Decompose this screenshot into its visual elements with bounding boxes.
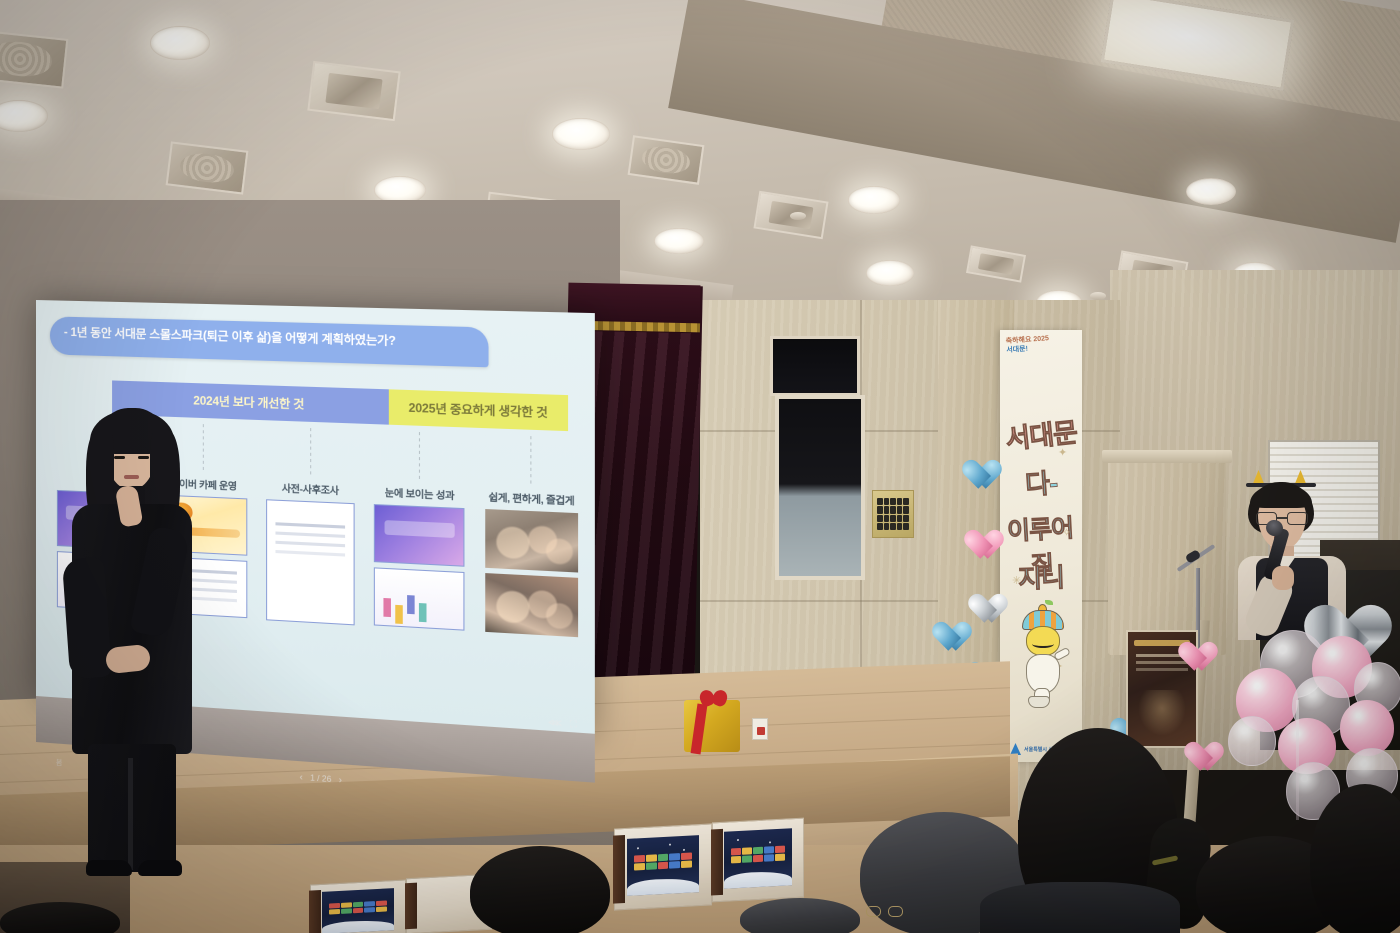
- banner-handwriting: 축하해요 2025 서대문!: [1005, 334, 1068, 356]
- glasses-icon: [1256, 512, 1310, 525]
- pager-prev-button[interactable]: ‹: [300, 771, 303, 782]
- hall-scene: 축하해요 2025 서대문! 서대문 다- 이루어질 지니 ✦ ✧ ✳ ✦ 서울…: [0, 0, 1400, 933]
- switch[interactable]: [897, 515, 903, 522]
- column-connector: [203, 424, 204, 473]
- banner-handwriting-line1: 축하해요 2025: [1005, 335, 1049, 345]
- audience-head: [740, 898, 860, 933]
- heart-balloon-silver: [962, 582, 996, 614]
- projection-booth-window: [775, 395, 865, 580]
- switch[interactable]: [903, 523, 909, 530]
- box-ribbon: [405, 883, 417, 929]
- mc-fringe: [1250, 484, 1312, 508]
- switch[interactable]: [884, 498, 890, 505]
- slide-toolbar[interactable]: ⋘ ⛶: [548, 717, 577, 731]
- slide-title: - 1년 동안 서대문 스몰스파크(퇴근 이후 삶)을 어떻게 계획하였는가?: [50, 316, 489, 367]
- switch[interactable]: [890, 523, 896, 530]
- box-artwork: [322, 888, 393, 933]
- presenter-leg-gap: [128, 758, 133, 870]
- sparkle-icon: ✧: [1062, 526, 1071, 539]
- outlet-marker: [757, 727, 765, 735]
- thumbnail-image: [266, 499, 355, 625]
- genie-leaf: [1045, 600, 1053, 605]
- switch[interactable]: [890, 498, 896, 505]
- switch[interactable]: [890, 506, 896, 513]
- column-connector: [531, 436, 532, 487]
- thumbnail-photo: [485, 573, 578, 637]
- switch[interactable]: [903, 506, 909, 513]
- switch[interactable]: [903, 498, 909, 505]
- presenter-shoe-right: [138, 860, 182, 876]
- box-ribbon: [613, 835, 625, 903]
- switch[interactable]: [884, 523, 890, 530]
- switch[interactable]: [884, 515, 890, 522]
- share-icon[interactable]: ⋘: [548, 717, 562, 730]
- heart-balloon-pink: [958, 518, 992, 550]
- box-ribbon: [309, 890, 321, 933]
- switch[interactable]: [897, 506, 903, 513]
- switch[interactable]: [877, 498, 883, 505]
- box-tile-graphic: [731, 846, 786, 863]
- genie-mascot: [1014, 600, 1070, 710]
- audience-head: [470, 846, 610, 933]
- slide-header-2025: 2025년 중요하게 생각한 것: [389, 389, 568, 431]
- sparkle-icon: ✦: [1058, 446, 1067, 459]
- presenter-mouth: [124, 475, 139, 479]
- downlight: [1186, 178, 1236, 205]
- genie-moustache: [1032, 640, 1054, 648]
- banner-handwriting-line2: 서대문!: [1006, 345, 1028, 353]
- event-banner: 축하해요 2025 서대문! 서대문 다- 이루어질 지니 ✦ ✧ ✳ ✦ 서울…: [1000, 330, 1082, 762]
- presenter-eye-left: [114, 456, 125, 459]
- thumbnail-image: [374, 567, 465, 630]
- balloon-clear: [1228, 716, 1276, 766]
- ceiling-vent: [307, 61, 400, 121]
- downlight: [848, 186, 900, 214]
- switch[interactable]: [903, 515, 909, 522]
- ceiling-vent: [166, 141, 249, 194]
- gift-box-item: [614, 823, 712, 910]
- column-connector: [419, 432, 420, 482]
- column-label: 눈에 보이는 성과: [385, 485, 455, 503]
- presenter-eye-right: [138, 456, 149, 459]
- podium-top-surface: [1102, 450, 1232, 463]
- thumbnail-photo: [485, 509, 578, 573]
- genie-lamp-icon: [1028, 696, 1050, 708]
- presenter-shoe-left: [86, 860, 132, 876]
- switch[interactable]: [877, 523, 883, 530]
- column-thumbnails: [259, 499, 363, 626]
- presenter: [62, 408, 198, 888]
- switch[interactable]: [877, 506, 883, 513]
- presenter-arm-left: [62, 557, 112, 680]
- ceiling-vent: [966, 245, 1026, 282]
- slide-column-3: 사전-사후조사: [259, 426, 363, 676]
- heart-balloon-pink: [1172, 630, 1212, 668]
- ceiling-vent: [0, 29, 68, 88]
- banner-word-2: 다-: [1000, 459, 1082, 504]
- balloon-stick: [1296, 700, 1299, 820]
- switch[interactable]: [890, 515, 896, 522]
- heart-balloon-blue: [926, 610, 952, 634]
- smoke-detector-icon: [1090, 292, 1106, 300]
- gift-bow: [700, 690, 728, 706]
- switch[interactable]: [884, 506, 890, 513]
- switch[interactable]: [897, 523, 903, 530]
- box-ribbon: [711, 829, 723, 895]
- wall-outlet: [752, 718, 768, 740]
- fullscreen-icon[interactable]: ⛶: [570, 718, 577, 730]
- gift-box-item: [310, 879, 406, 933]
- gift-box-item: [712, 818, 804, 903]
- downlight: [0, 100, 48, 132]
- booth-upper-window: [770, 336, 860, 396]
- audience-coat: [980, 882, 1180, 933]
- switch[interactable]: [897, 498, 903, 505]
- light-switch-panel[interactable]: [872, 490, 914, 538]
- downlight: [654, 228, 704, 254]
- box-artwork: [627, 835, 700, 896]
- audience-glasses-icon: [866, 906, 906, 918]
- downlight: [552, 118, 610, 150]
- box-tile-graphic: [329, 901, 386, 915]
- column-thumbnails: [367, 504, 473, 631]
- column-label: 쉽게, 편하게, 즐겁게: [489, 489, 575, 507]
- column-connector: [310, 428, 311, 478]
- slide-column-4: 눈에 보이는 성과: [367, 430, 473, 683]
- banner-word-1: 서대문: [1000, 410, 1082, 457]
- column-label: 사전-사후조사: [282, 480, 339, 497]
- heart-balloon-pink: [1178, 730, 1216, 766]
- switch[interactable]: [877, 515, 883, 522]
- smoke-detector-icon: [790, 212, 806, 220]
- ceiling-vent: [628, 135, 705, 185]
- thumbnail-image: [374, 504, 465, 567]
- heart-balloon-blue: [956, 448, 990, 480]
- pager-next-button[interactable]: ›: [339, 774, 342, 785]
- box-tile-graphic: [634, 852, 692, 870]
- slide-column-5: 쉽게, 편하게, 즐겁게: [477, 434, 586, 691]
- box-artwork: [724, 829, 792, 889]
- pager-current: 1 / 26: [310, 773, 331, 784]
- downlight: [150, 26, 210, 60]
- sparkle-icon: ✳: [1012, 574, 1021, 587]
- downlight: [866, 260, 914, 286]
- column-thumbnails: [477, 509, 586, 638]
